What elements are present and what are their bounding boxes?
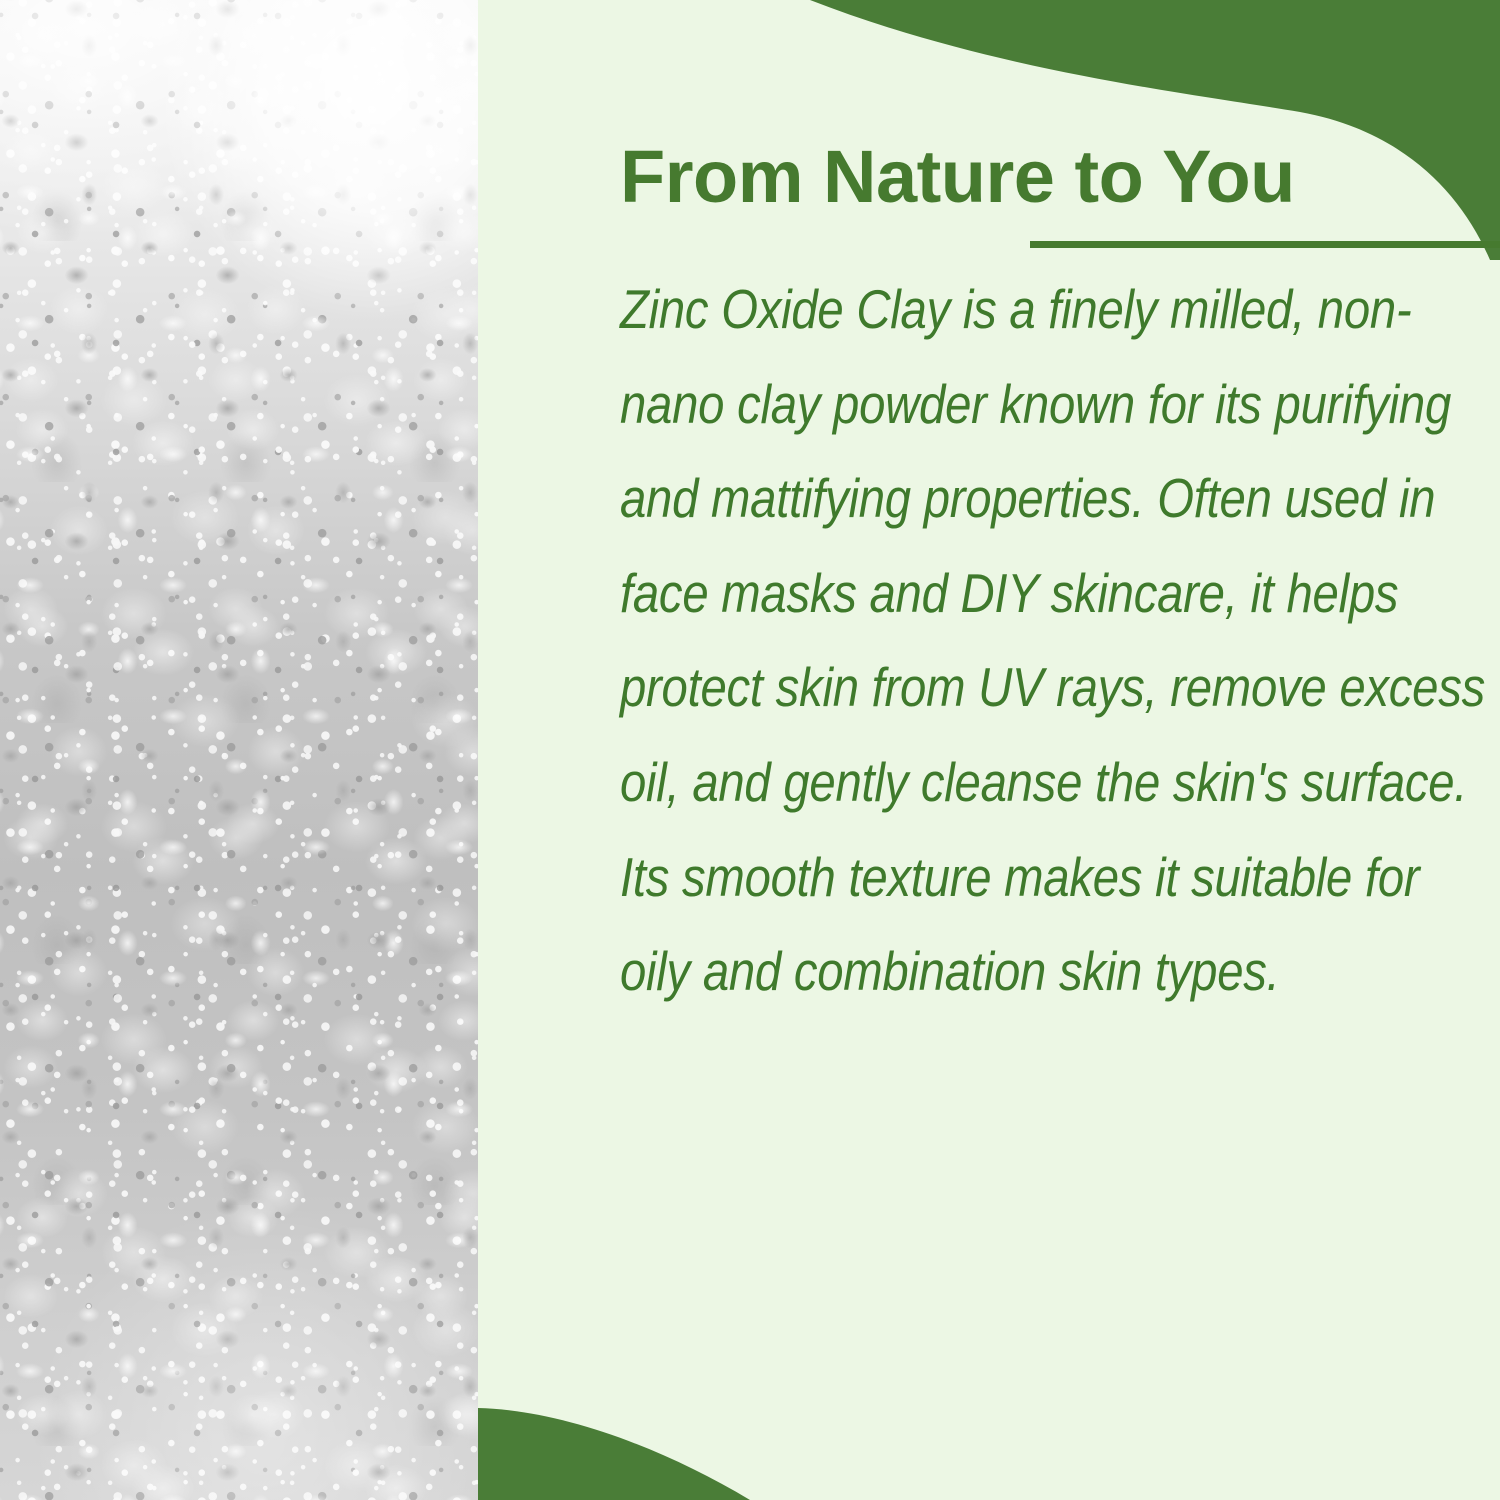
page-title: From Nature to You (620, 140, 1490, 214)
content-column: From Nature to You Zinc Oxide Clay is a … (620, 140, 1490, 1019)
product-infographic: From Nature to You Zinc Oxide Clay is a … (0, 0, 1500, 1500)
product-description-text: Zinc Oxide Clay is a finely milled, non-… (620, 214, 1489, 1019)
powder-texture-highlight-wash (0, 0, 478, 1500)
product-image-panel (0, 0, 478, 1500)
bottom-left-swoosh-decoration (478, 1390, 878, 1500)
